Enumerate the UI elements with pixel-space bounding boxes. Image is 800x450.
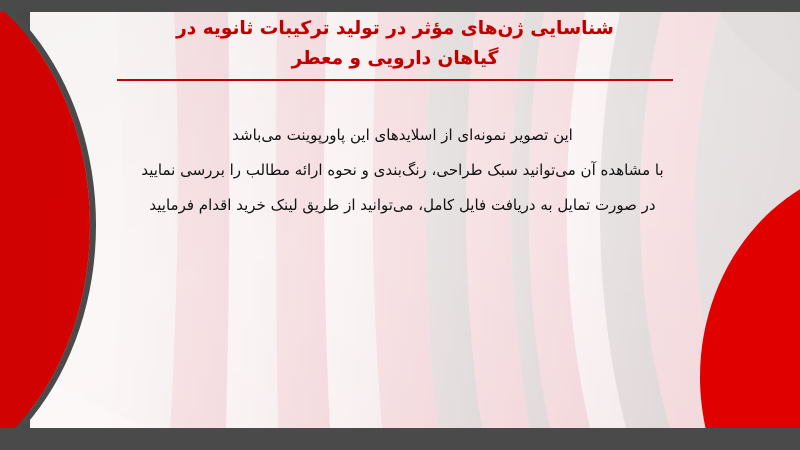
slide: شناسایی ژن‌های مؤثر در تولید ترکیبات ثان… [0, 0, 800, 450]
slide-frame-bottom-border [0, 428, 800, 450]
slide-frame-top-border [0, 0, 800, 12]
red-arc-decoration-right [700, 162, 800, 428]
body-text-line-3: در صورت تمایل به دریافت فایل کامل، می‌تو… [115, 188, 690, 223]
slide-title-line-1: شناسایی ژن‌های مؤثر در تولید ترکیبات ثان… [100, 14, 690, 44]
title-underline-rule [117, 79, 673, 81]
body-text-line-2: با مشاهده آن می‌توانید سبک طراحی، رنگ‌بن… [115, 153, 690, 188]
red-ellipse-shape [0, 0, 90, 450]
slide-title: شناسایی ژن‌های مؤثر در تولید ترکیبات ثان… [100, 14, 690, 81]
slide-body-text: این تصویر نمونه‌ای از اسلایدهای این پاور… [115, 118, 690, 223]
slide-title-line-2: گیاهان دارویی و معطر [100, 44, 690, 74]
body-text-line-1: این تصویر نمونه‌ای از اسلایدهای این پاور… [115, 118, 690, 153]
red-ellipse-decoration-left [0, 0, 90, 450]
